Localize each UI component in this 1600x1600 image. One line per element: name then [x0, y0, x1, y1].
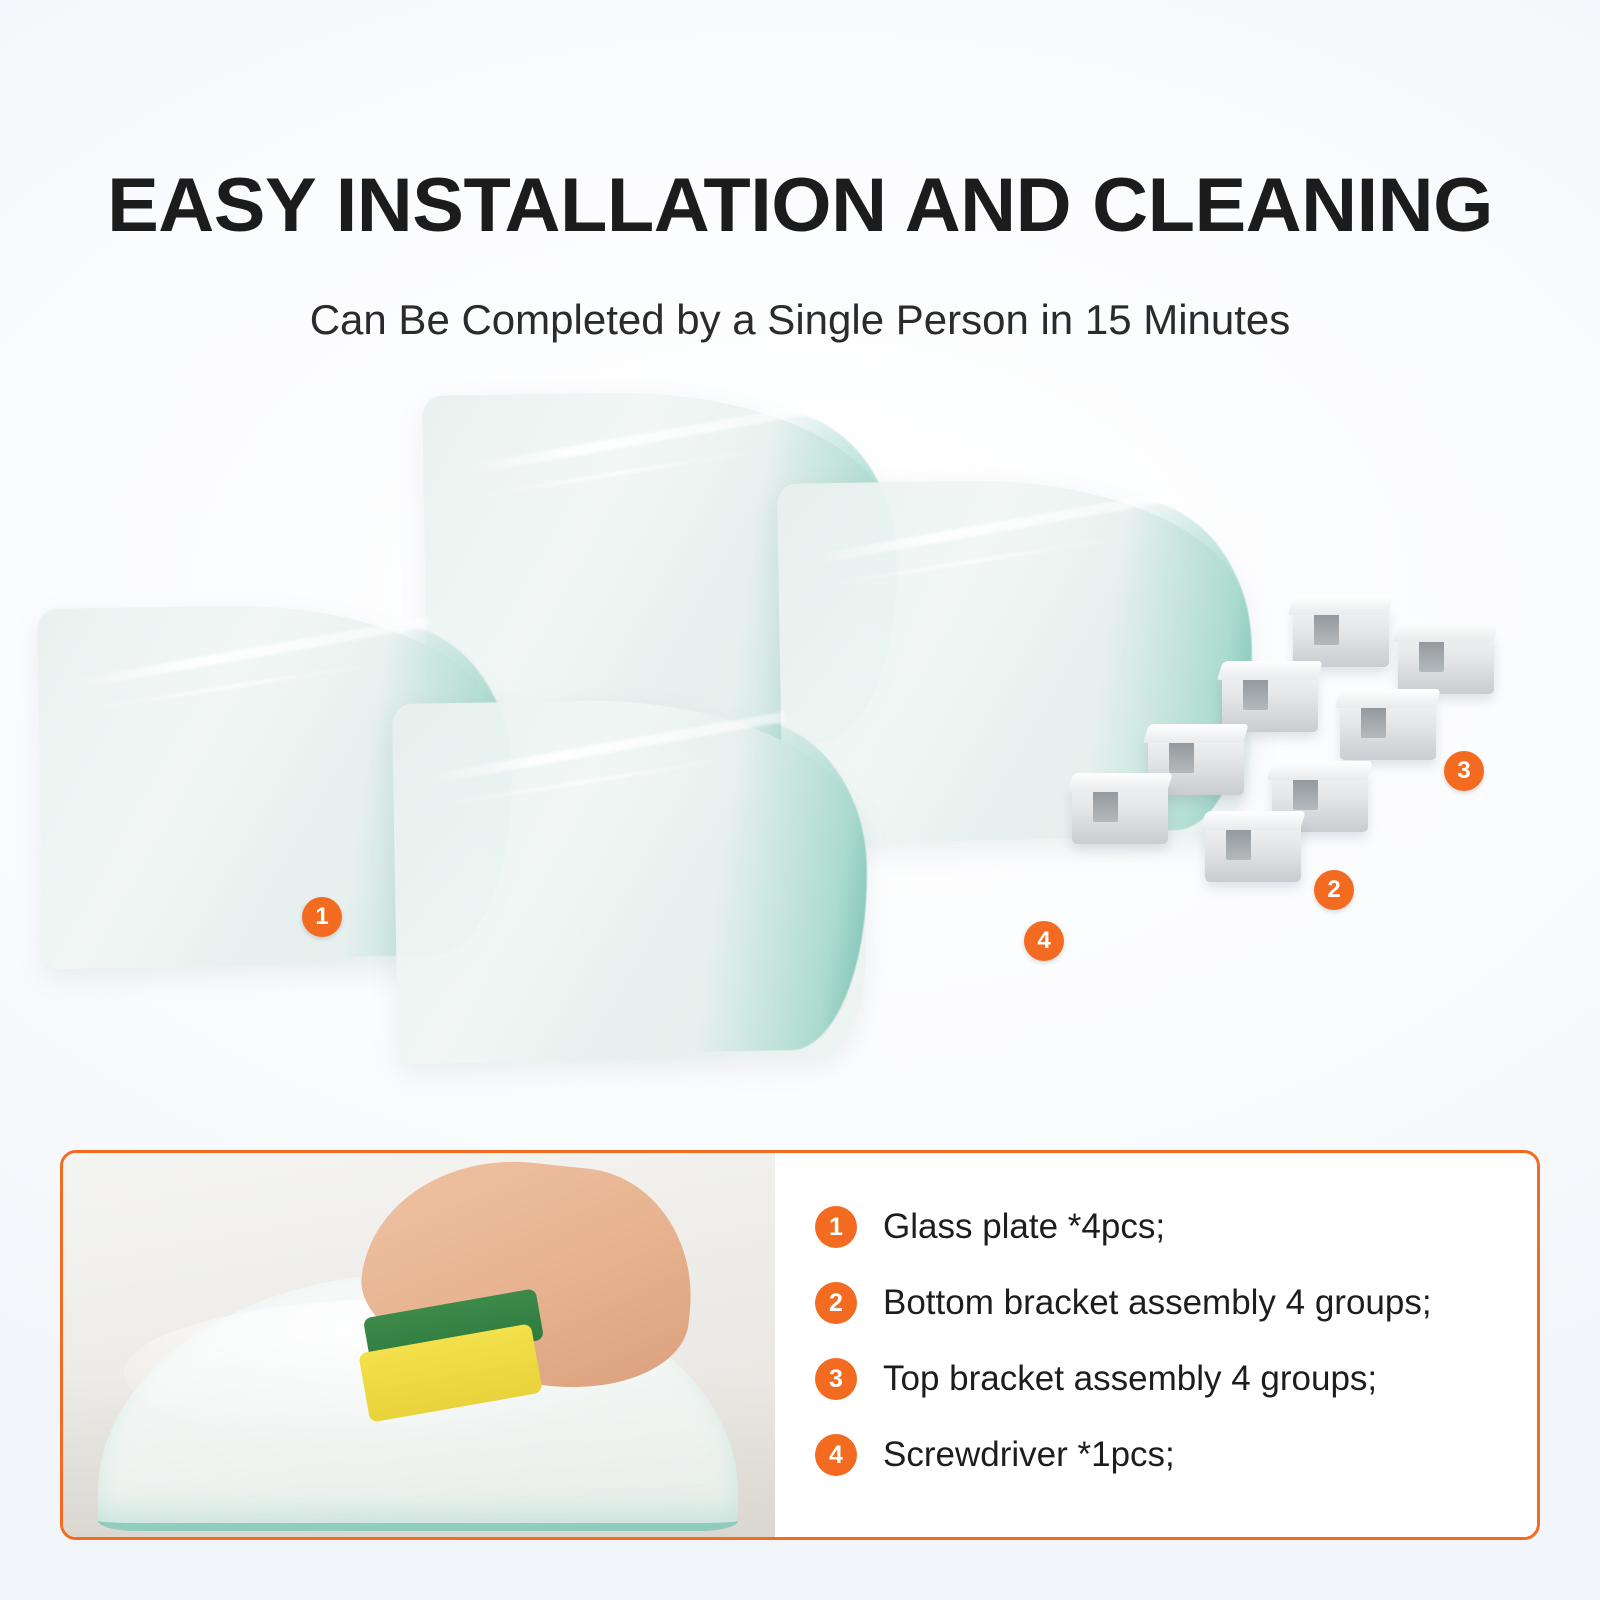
bracket-cap [1267, 761, 1373, 780]
bracket-cap [1143, 724, 1249, 743]
page-title: EASY INSTALLATION AND CLEANING [0, 168, 1600, 244]
callout-badge-4: 4 [1024, 921, 1064, 961]
legend-badge-4: 4 [815, 1434, 857, 1476]
page-subtitle: Can Be Completed by a Single Person in 1… [0, 296, 1600, 344]
legend-badge-2: 2 [815, 1282, 857, 1324]
cleaning-demo-card: 1 Glass plate *4pcs; 2 Bottom bracket as… [60, 1150, 1540, 1540]
callout-badge-3-label: 3 [1457, 757, 1470, 785]
top-bracket-assembly [1340, 698, 1436, 760]
bracket-cap [1217, 661, 1323, 680]
bracket-cap [1200, 811, 1306, 830]
callout-badge-2-label: 2 [1327, 876, 1340, 904]
bracket-cap [1335, 689, 1441, 708]
legend-badge-1: 1 [815, 1206, 857, 1248]
legend-label-4: Screwdriver *1pcs; [883, 1435, 1175, 1475]
parts-layout-scene: 1 2 3 4 [0, 370, 1600, 1110]
bracket-cap [1288, 596, 1394, 615]
callout-badge-1: 1 [302, 897, 342, 937]
top-bracket-assembly [1293, 605, 1389, 667]
bottom-bracket-assembly [1072, 782, 1168, 844]
legend-label-1: Glass plate *4pcs; [883, 1207, 1165, 1247]
legend-badge-2-number: 2 [829, 1289, 843, 1318]
product-infographic: EASY INSTALLATION AND CLEANING Can Be Co… [0, 0, 1600, 1600]
top-bracket-assembly [1222, 670, 1318, 732]
legend-badge-4-number: 4 [829, 1441, 843, 1470]
bracket-cap [1067, 773, 1173, 792]
callout-badge-4-label: 4 [1037, 927, 1050, 955]
legend-badge-3-number: 3 [829, 1365, 843, 1394]
list-item: 3 Top bracket assembly 4 groups; [815, 1341, 1515, 1417]
legend-label-2: Bottom bracket assembly 4 groups; [883, 1283, 1432, 1323]
glass-edge [667, 717, 870, 1052]
list-item: 2 Bottom bracket assembly 4 groups; [815, 1265, 1515, 1341]
list-item: 1 Glass plate *4pcs; [815, 1189, 1515, 1265]
bracket-cap [1393, 623, 1499, 642]
legend-badge-3: 3 [815, 1358, 857, 1400]
top-bracket-assembly [1398, 632, 1494, 694]
callout-badge-2: 2 [1314, 870, 1354, 910]
legend-label-3: Top bracket assembly 4 groups; [883, 1359, 1377, 1399]
callout-badge-3: 3 [1444, 751, 1484, 791]
legend-badge-1-number: 1 [829, 1213, 843, 1242]
glass-plate [392, 696, 868, 1064]
cleaning-photo [63, 1153, 775, 1537]
list-item: 4 Screwdriver *1pcs; [815, 1417, 1515, 1493]
bottom-bracket-assembly [1205, 820, 1301, 882]
parts-legend: 1 Glass plate *4pcs; 2 Bottom bracket as… [815, 1189, 1515, 1493]
callout-badge-1-label: 1 [315, 903, 328, 931]
